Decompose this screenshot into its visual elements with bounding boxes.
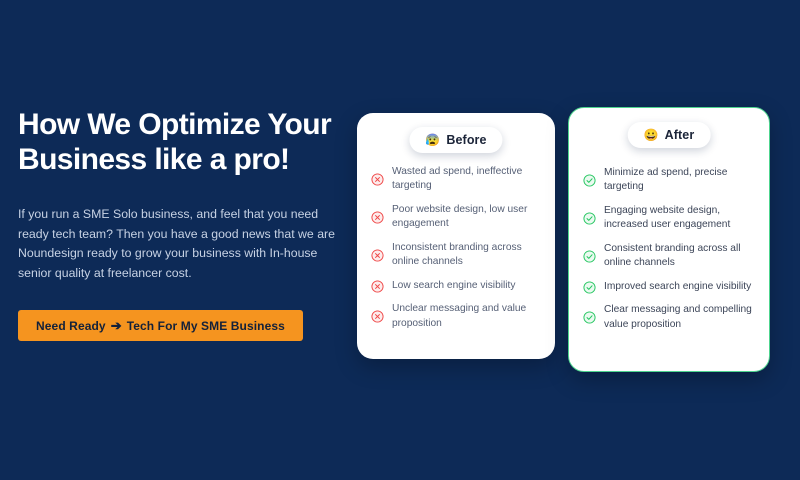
page-title-line-2: Business like a pro! xyxy=(18,143,348,178)
page-root: How We Optimize Your Business like a pro… xyxy=(0,0,800,480)
x-circle-icon xyxy=(371,211,384,224)
cta-button[interactable]: Need Ready ➔ Tech For My SME Business xyxy=(18,310,303,341)
x-circle-icon xyxy=(371,310,384,323)
check-circle-icon xyxy=(583,174,596,187)
after-card: 😀 After Minimize ad spend, precise targe… xyxy=(568,107,770,372)
check-circle-icon xyxy=(583,311,596,324)
list-item-label: Consistent branding across all online ch… xyxy=(604,242,757,271)
list-item-label: Engaging website design, increased user … xyxy=(604,204,757,233)
x-circle-icon xyxy=(371,280,384,293)
hero-text-column: How We Optimize Your Business like a pro… xyxy=(18,108,348,341)
after-card-list: Minimize ad spend, precise targeting Eng… xyxy=(583,166,757,332)
page-title: How We Optimize Your Business like a pro… xyxy=(18,108,348,178)
list-item: Wasted ad spend, ineffective targeting xyxy=(371,165,543,194)
before-card-badge-label: Before xyxy=(446,133,486,147)
list-item: Poor website design, low user engagement xyxy=(371,203,543,232)
cta-label-primary: Need Ready xyxy=(36,319,106,333)
after-card-badge-label: After xyxy=(665,128,695,142)
hero-paragraph: If you run a SME Solo business, and feel… xyxy=(18,205,340,285)
list-item-label: Improved search engine visibility xyxy=(604,280,751,294)
list-item: Engaging website design, increased user … xyxy=(583,204,757,233)
list-item: Consistent branding across all online ch… xyxy=(583,242,757,271)
list-item: Minimize ad spend, precise targeting xyxy=(583,166,757,195)
anxious-face-emoji: 😰 xyxy=(425,134,440,146)
x-circle-icon xyxy=(371,173,384,186)
list-item: Unclear messaging and value proposition xyxy=(371,302,543,331)
list-item-label: Wasted ad spend, ineffective targeting xyxy=(392,165,543,194)
list-item-label: Low search engine visibility xyxy=(392,279,515,293)
list-item-label: Minimize ad spend, precise targeting xyxy=(604,166,757,195)
check-circle-icon xyxy=(583,250,596,263)
list-item: Inconsistent branding across online chan… xyxy=(371,241,543,270)
arrow-right-icon: ➔ xyxy=(111,319,122,332)
cta-label-secondary: Tech For My SME Business xyxy=(127,319,285,333)
list-item-label: Clear messaging and compelling value pro… xyxy=(604,303,757,332)
after-card-badge: 😀 After xyxy=(628,122,711,148)
before-card: 😰 Before Wasted ad spend, ineffective ta… xyxy=(357,113,555,359)
before-card-badge: 😰 Before xyxy=(409,127,502,153)
list-item-label: Unclear messaging and value proposition xyxy=(392,302,543,331)
x-circle-icon xyxy=(371,249,384,262)
list-item: Low search engine visibility xyxy=(371,279,543,293)
list-item: Clear messaging and compelling value pro… xyxy=(583,303,757,332)
list-item-label: Inconsistent branding across online chan… xyxy=(392,241,543,270)
list-item-label: Poor website design, low user engagement xyxy=(392,203,543,232)
check-circle-icon xyxy=(583,212,596,225)
before-card-list: Wasted ad spend, ineffective targeting P… xyxy=(371,165,543,331)
check-circle-icon xyxy=(583,281,596,294)
page-title-line-1: How We Optimize Your xyxy=(18,108,348,143)
list-item: Improved search engine visibility xyxy=(583,280,757,294)
grinning-face-emoji: 😀 xyxy=(644,129,659,141)
